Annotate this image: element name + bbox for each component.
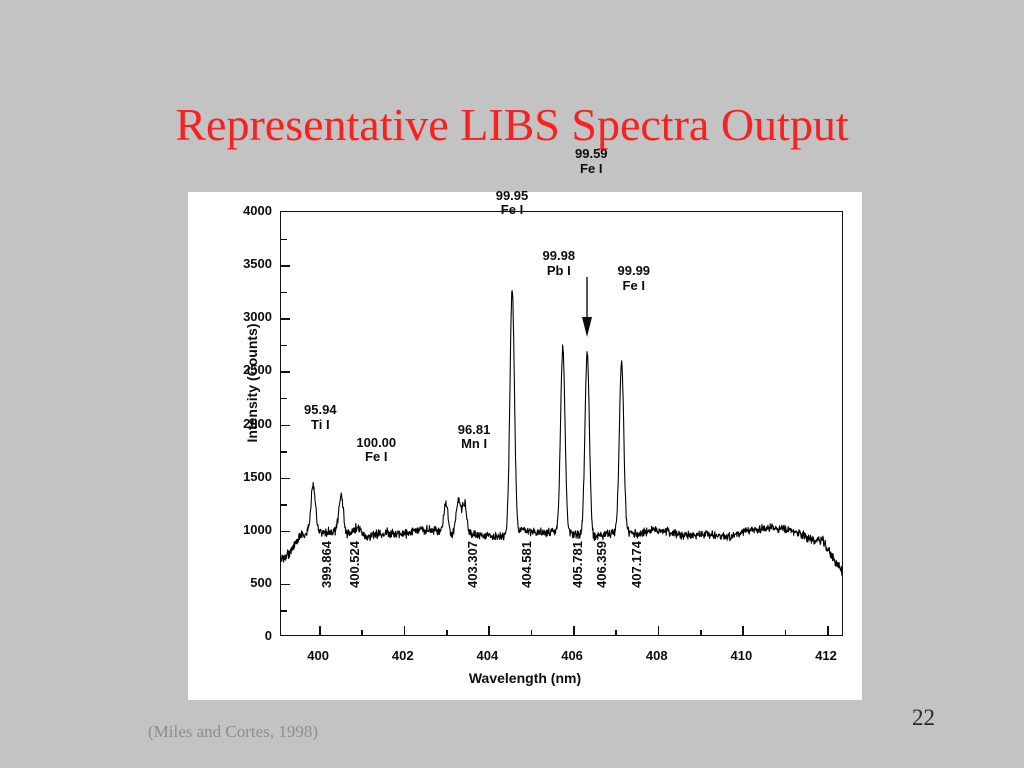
peak-pointer-arrow-icon <box>581 277 593 344</box>
tick-mark <box>785 630 787 635</box>
peak-species: Fe I <box>496 203 529 218</box>
wavelength-label: 403.307 <box>465 541 480 588</box>
peak-concentration: 99.59 <box>575 147 608 162</box>
y-tick-label: 2000 <box>210 416 272 431</box>
tick-mark <box>742 626 744 635</box>
peak-annotation: 100.00Fe I <box>356 436 396 465</box>
tick-mark <box>281 504 287 506</box>
peak-concentration: 99.99 <box>617 264 650 279</box>
tick-mark <box>281 318 290 320</box>
peak-annotation: 99.95Fe I <box>496 189 529 218</box>
x-tick-label: 412 <box>800 648 852 663</box>
tick-mark <box>404 626 406 635</box>
peak-annotation: 99.99Fe I <box>617 264 650 293</box>
tick-mark <box>281 557 287 559</box>
tick-mark <box>319 626 321 635</box>
peak-concentration: 95.94 <box>304 403 337 418</box>
tick-mark <box>281 531 290 533</box>
tick-mark <box>281 239 287 241</box>
peak-concentration: 99.95 <box>496 189 529 204</box>
peak-species: Ti I <box>304 418 337 433</box>
peak-concentration: 96.81 <box>458 423 491 438</box>
peak-annotation: 99.98Pb I <box>543 249 576 278</box>
x-tick-label: 402 <box>377 648 429 663</box>
tick-mark <box>281 292 287 294</box>
peak-concentration: 100.00 <box>356 436 396 451</box>
wavelength-label: 399.864 <box>319 541 334 588</box>
wavelength-label: 407.174 <box>629 541 644 588</box>
peak-annotation: 96.81Mn I <box>458 423 491 452</box>
peak-species: Fe I <box>617 279 650 294</box>
x-tick-label: 406 <box>546 648 598 663</box>
peak-species: Pb I <box>543 264 576 279</box>
y-tick-label: 1000 <box>210 522 272 537</box>
citation: (Miles and Cortes, 1998) <box>148 722 318 742</box>
tick-mark <box>281 265 290 267</box>
x-tick-label: 404 <box>461 648 513 663</box>
y-tick-label: 0 <box>210 628 272 643</box>
peak-species: Fe I <box>575 162 608 177</box>
peak-annotation: 95.94Ti I <box>304 403 337 432</box>
peak-concentration: 99.98 <box>543 249 576 264</box>
x-tick-label: 410 <box>715 648 767 663</box>
y-tick-label: 500 <box>210 575 272 590</box>
tick-mark <box>827 626 829 635</box>
x-tick-label: 408 <box>631 648 683 663</box>
tick-mark <box>446 630 448 635</box>
y-tick-label: 4000 <box>210 203 272 218</box>
wavelength-label: 400.524 <box>347 541 362 588</box>
y-tick-label: 1500 <box>210 469 272 484</box>
y-tick-label: 2500 <box>210 362 272 377</box>
tick-mark <box>488 626 490 635</box>
peak-species: Fe I <box>356 450 396 465</box>
figure-panel: Intensity (Counts) Wavelength (nm) 399.8… <box>188 192 862 700</box>
tick-mark <box>281 345 287 347</box>
tick-mark <box>658 626 660 635</box>
x-tick-label: 400 <box>292 648 344 663</box>
tick-mark <box>700 630 702 635</box>
tick-mark <box>281 478 290 480</box>
y-tick-label: 3500 <box>210 256 272 271</box>
peak-annotation: 99.59Fe I <box>575 147 608 176</box>
tick-mark <box>281 610 287 612</box>
wavelength-label: 406.359 <box>594 541 609 588</box>
wavelength-label: 404.581 <box>519 541 534 588</box>
tick-mark <box>281 425 290 427</box>
tick-mark <box>573 626 575 635</box>
tick-mark <box>281 584 290 586</box>
tick-mark <box>281 451 287 453</box>
tick-mark <box>281 371 290 373</box>
tick-mark <box>361 630 363 635</box>
y-tick-label: 3000 <box>210 309 272 324</box>
tick-mark <box>281 398 287 400</box>
peak-species: Mn I <box>458 437 491 452</box>
page-number: 22 <box>912 705 935 731</box>
wavelength-label: 405.781 <box>570 541 585 588</box>
x-axis-label: Wavelength (nm) <box>188 670 862 686</box>
tick-mark <box>531 630 533 635</box>
tick-mark <box>615 630 617 635</box>
page-title: Representative LIBS Spectra Output <box>0 101 1024 149</box>
